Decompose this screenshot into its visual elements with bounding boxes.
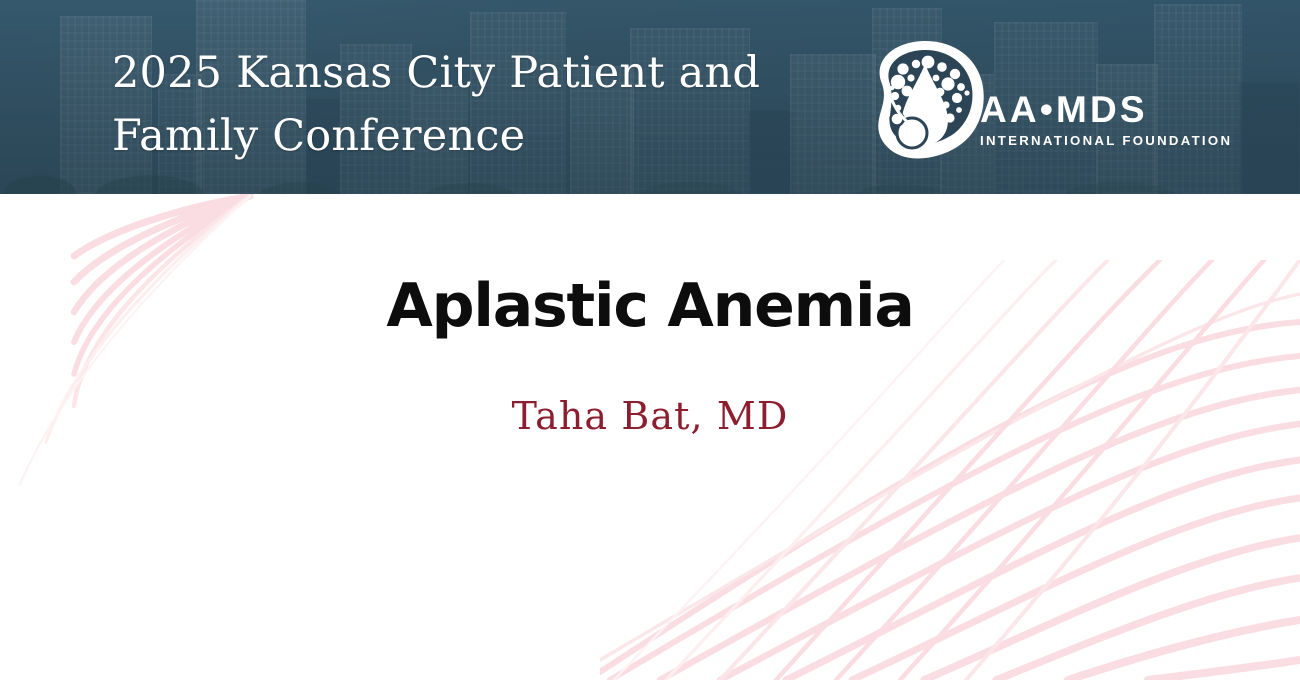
slide-main-title: Aplastic Anemia — [0, 270, 1300, 342]
aamds-logo: AA•MDS INTERNATIONAL FOUNDATION — [862, 38, 1182, 166]
aamds-tagline: INTERNATIONAL FOUNDATION — [980, 132, 1180, 150]
aamds-wordmark: AA•MDS — [980, 90, 1180, 130]
aamds-wordmark-block: AA•MDS INTERNATIONAL FOUNDATION — [980, 90, 1180, 150]
slide-body: Aplastic Anemia Taha Bat, MD — [0, 194, 1300, 680]
pink-fan-lines-top-left — [0, 194, 320, 494]
presentation-slide: 2025 Kansas City Patient and Family Conf… — [0, 0, 1300, 680]
aamds-droplet-mark — [862, 38, 988, 164]
slide-header-band: 2025 Kansas City Patient and Family Conf… — [0, 0, 1300, 194]
conference-title: 2025 Kansas City Patient and Family Conf… — [112, 42, 832, 168]
slide-presenter-name: Taha Bat, MD — [0, 392, 1300, 440]
